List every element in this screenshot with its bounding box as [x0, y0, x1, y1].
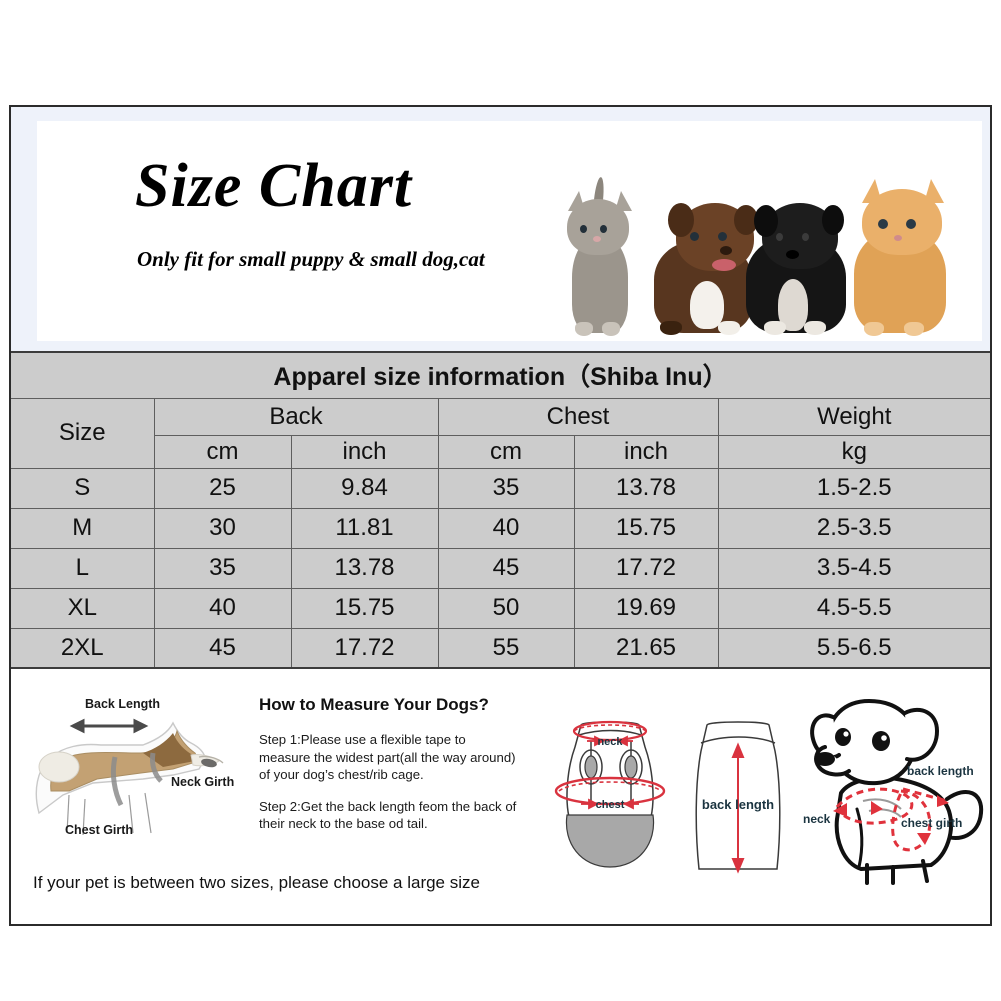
- garment-svg: neck chest: [529, 691, 797, 883]
- cell-back-inch: 17.72: [291, 628, 438, 668]
- header-chest-cm: cm: [438, 435, 574, 468]
- header-weight-kg: kg: [718, 435, 990, 468]
- cell-chest-cm: 45: [438, 548, 574, 588]
- cell-weight-kg: 3.5-4.5: [718, 548, 990, 588]
- pets-photo: [542, 139, 972, 339]
- cell-weight-kg: 4.5-5.5: [718, 588, 990, 628]
- cell-back-inch: 9.84: [291, 468, 438, 508]
- size-footnote: If your pet is between two sizes, please…: [33, 873, 480, 893]
- cell-back-cm: 25: [154, 468, 291, 508]
- paw-right-shape: [804, 321, 826, 335]
- paw-left-shape: [864, 322, 884, 336]
- cell-weight-kg: 5.5-6.5: [718, 628, 990, 668]
- chest-marking-shape: [690, 281, 724, 329]
- hero-inner-panel: Size Chart Only fit for small puppy & sm…: [37, 121, 982, 341]
- hero-text-block: Size Chart Only fit for small puppy & sm…: [135, 155, 565, 276]
- garment-chest-label: chest: [596, 799, 625, 811]
- hero-banner: Size Chart Only fit for small puppy & sm…: [11, 107, 990, 351]
- table-title-row: Apparel size information（Shiba Inu）: [11, 352, 990, 398]
- paw-left-shape: [660, 321, 682, 335]
- eye-left-shape: [690, 232, 699, 241]
- header-back-cm: cm: [154, 435, 291, 468]
- cell-chest-cm: 50: [438, 588, 574, 628]
- size-table-wrapper: Apparel size information（Shiba Inu） Size…: [11, 351, 990, 669]
- dog-line-chest-girth-label: chest girth: [901, 816, 962, 830]
- garment-diagrams: neck chest: [529, 691, 797, 883]
- cell-size: XL: [11, 588, 154, 628]
- cell-chest-inch: 17.72: [574, 548, 718, 588]
- cell-chest-cm: 40: [438, 508, 574, 548]
- size-table: Apparel size information（Shiba Inu） Size…: [11, 351, 990, 669]
- paw-right-shape: [904, 322, 924, 336]
- ear-right-shape: [822, 205, 844, 235]
- cell-weight-kg: 2.5-3.5: [718, 508, 990, 548]
- cell-size: S: [11, 468, 154, 508]
- dog-photo-chest-girth-label: Chest Girth: [65, 823, 133, 837]
- eye-left-shape: [580, 225, 587, 233]
- cell-weight-kg: 1.5-2.5: [718, 468, 990, 508]
- cell-size: 2XL: [11, 628, 154, 668]
- header-back: Back: [154, 398, 438, 435]
- cell-chest-cm: 55: [438, 628, 574, 668]
- orange-kitten-image: [842, 173, 960, 333]
- dog-photo-back-length-label: Back Length: [85, 697, 160, 711]
- table-row: L 35 13.78 45 17.72 3.5-4.5: [11, 548, 990, 588]
- measure-step-2: Step 2:Get the back length feom the back…: [259, 798, 517, 833]
- header-chest-inch: inch: [574, 435, 718, 468]
- cell-size: L: [11, 548, 154, 588]
- cell-back-cm: 35: [154, 548, 291, 588]
- size-chart-page: Size Chart Only fit for small puppy & sm…: [0, 0, 1001, 1001]
- dog-measure-photo: Back Length Neck Girth Chest Girth: [23, 695, 251, 855]
- eye-left-shape: [776, 233, 783, 241]
- cell-back-inch: 13.78: [291, 548, 438, 588]
- grey-tabby-kitten-image: [556, 183, 642, 333]
- cell-size: M: [11, 508, 154, 548]
- eye-right-shape: [718, 232, 727, 241]
- garment-back-length-label: back length: [702, 797, 774, 812]
- header-size: Size: [11, 398, 154, 468]
- paw-left-shape: [575, 322, 593, 336]
- measure-instructions: How to Measure Your Dogs? Step 1:Please …: [259, 695, 517, 847]
- ear-left-shape: [754, 205, 778, 237]
- cell-chest-cm: 35: [438, 468, 574, 508]
- paw-left-shape: [764, 321, 786, 335]
- eye-left-shape: [878, 219, 888, 229]
- dog-photo-neck-girth-label: Neck Girth: [171, 775, 234, 789]
- eye-right-shape: [906, 219, 916, 229]
- cell-back-cm: 40: [154, 588, 291, 628]
- nose-shape: [894, 235, 902, 241]
- page-title: Size Chart: [135, 155, 565, 218]
- dog-line-neck-label: neck: [803, 812, 831, 826]
- header-weight: Weight: [718, 398, 990, 435]
- cell-back-inch: 15.75: [291, 588, 438, 628]
- dog-line-diagram: neck back length chest girth: [797, 689, 993, 885]
- measure-title: How to Measure Your Dogs?: [259, 695, 517, 715]
- cell-chest-inch: 15.75: [574, 508, 718, 548]
- eye-right-shape: [600, 225, 607, 233]
- size-chart-card: Size Chart Only fit for small puppy & sm…: [9, 105, 992, 926]
- cell-back-inch: 11.81: [291, 508, 438, 548]
- nose-shape: [593, 236, 601, 242]
- table-row: M 30 11.81 40 15.75 2.5-3.5: [11, 508, 990, 548]
- nose-shape: [720, 246, 732, 255]
- hero-subtitle: Only fit for small puppy & small dog,cat: [137, 242, 537, 276]
- measure-step-1: Step 1:Please use a flexible tape to mea…: [259, 731, 517, 784]
- table-row: 2XL 45 17.72 55 21.65 5.5-6.5: [11, 628, 990, 668]
- eye-right-shape: [802, 233, 809, 241]
- nose-shape: [786, 250, 799, 259]
- table-row: XL 40 15.75 50 19.69 4.5-5.5: [11, 588, 990, 628]
- cell-chest-inch: 21.65: [574, 628, 718, 668]
- dog-line-back-length-label: back length: [907, 764, 974, 778]
- paw-right-shape: [718, 321, 740, 335]
- table-group-header-row: Size Back Chest Weight: [11, 398, 990, 435]
- header-back-inch: inch: [291, 435, 438, 468]
- mouth-shape: [712, 259, 736, 271]
- cell-chest-inch: 13.78: [574, 468, 718, 508]
- table-unit-header-row: cm inch cm inch kg: [11, 435, 990, 468]
- paw-right-shape: [602, 322, 620, 336]
- black-puppy-image: [738, 183, 856, 333]
- cell-back-cm: 30: [154, 508, 291, 548]
- ear-left-shape: [668, 203, 694, 237]
- cell-chest-inch: 19.69: [574, 588, 718, 628]
- header-chest: Chest: [438, 398, 718, 435]
- table-title: Apparel size information（Shiba Inu）: [11, 352, 990, 398]
- table-row: S 25 9.84 35 13.78 1.5-2.5: [11, 468, 990, 508]
- head-shape: [862, 189, 942, 255]
- cell-back-cm: 45: [154, 628, 291, 668]
- garment-neck-label: neck: [597, 736, 623, 748]
- head-shape: [567, 199, 629, 255]
- measure-section: Back Length Neck Girth Chest Girth How t…: [11, 687, 990, 924]
- dog-line-svg: neck back length chest girth: [797, 689, 993, 885]
